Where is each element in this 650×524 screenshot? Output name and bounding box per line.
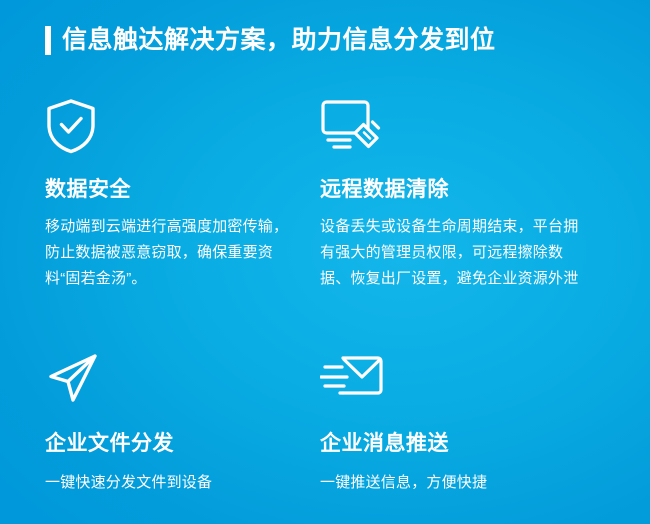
feature-card-file-distribution: 企业文件分发 一键快速分发文件到设备 [0, 350, 320, 496]
feature-card-message-push: 企业消息推送 一键推送信息，方便快捷 [320, 350, 640, 496]
feature-description: 移动端到云端进行高强度加密传输，防止数据被恶意窃取，确保重要资料“固若金汤”。 [45, 214, 298, 292]
envelope-send-icon [320, 350, 618, 412]
monitor-wipe-icon [320, 98, 618, 160]
feature-description: 设备丢失或设备生命周期结束，平台拥有强大的管理员权限，可远程擦除数据、恢复出厂设… [320, 214, 588, 292]
feature-description: 一键快速分发文件到设备 [45, 470, 298, 496]
feature-grid: 数据安全 移动端到云端进行高强度加密传输，防止数据被恶意窃取，确保重要资料“固若… [0, 98, 650, 496]
feature-description: 一键推送信息，方便快捷 [320, 470, 588, 496]
feature-card-remote-wipe: 远程数据清除 设备丢失或设备生命周期结束，平台拥有强大的管理员权限，可远程擦除数… [320, 98, 640, 350]
shield-check-icon [45, 98, 298, 160]
feature-title: 企业消息推送 [320, 432, 618, 456]
promo-banner: 信息触达解决方案，助力信息分发到位 数据安全 移动端到云端进行高强度加密传输，防… [0, 0, 650, 524]
page-title: 信息触达解决方案，助力信息分发到位 [62, 26, 496, 55]
feature-title: 数据安全 [45, 178, 298, 202]
heading-accent-bar [45, 26, 51, 55]
section-heading: 信息触达解决方案，助力信息分发到位 [45, 22, 496, 58]
feature-card-data-security: 数据安全 移动端到云端进行高强度加密传输，防止数据被恶意窃取，确保重要资料“固若… [0, 98, 320, 350]
paper-plane-icon [45, 350, 298, 412]
feature-title: 企业文件分发 [45, 432, 298, 456]
feature-title: 远程数据清除 [320, 178, 618, 202]
